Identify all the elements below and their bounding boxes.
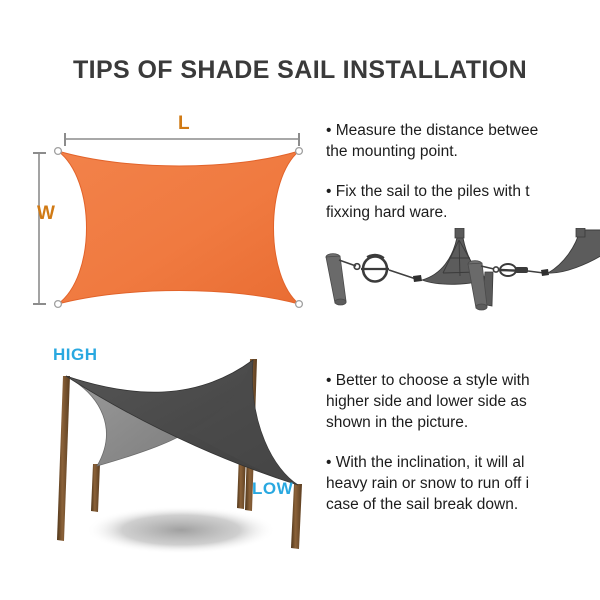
post-mid-left: [91, 464, 100, 512]
instruction-line: higher side and lower side as: [326, 391, 600, 412]
instruction-line: fixxing hard ware.: [326, 202, 600, 223]
inclined-structure-diagram: HIGH LOW: [36, 344, 336, 574]
mounting-post-icon: [468, 261, 487, 310]
instruction-item: • Measure the distance betwee the mounti…: [326, 120, 600, 162]
hardware-assembly-left: [326, 228, 493, 306]
mounting-hardware-illustration: [312, 228, 600, 320]
instruction-line: shown in the picture.: [326, 412, 600, 433]
instructions-bottom: • Better to choose a style with higher s…: [326, 370, 600, 515]
width-label: W: [37, 203, 55, 225]
instruction-line: heavy rain or snow to run off i: [326, 473, 600, 494]
instruction-line: • Better to choose a style with: [326, 370, 600, 391]
post-high-left: [57, 376, 70, 541]
sail-corner-right: [548, 230, 600, 273]
hardware-svg: [312, 228, 600, 320]
instruction-line: case of the sail break down.: [326, 494, 600, 515]
instruction-line: • Fix the sail to the piles with t: [326, 181, 600, 202]
instruction-line: • With the inclination, it will al: [326, 452, 600, 473]
rectangular-sail-diagram: L W: [18, 108, 318, 320]
instruction-line: the mounting point.: [326, 141, 600, 162]
instructions-top: • Measure the distance betwee the mounti…: [326, 120, 600, 223]
instruction-item: • Fix the sail to the piles with t fixxi…: [326, 181, 600, 223]
ground-shadow: [86, 506, 276, 554]
page-title: TIPS OF SHADE SAIL INSTALLATION: [0, 56, 600, 85]
low-side-label: LOW: [252, 479, 293, 499]
sail-fabric: [58, 151, 299, 304]
turnbuckle-icon: [361, 255, 389, 282]
structure-svg: [36, 344, 336, 574]
infographic-page: TIPS OF SHADE SAIL INSTALLATION: [0, 0, 600, 600]
instruction-item: • Better to choose a style with higher s…: [326, 370, 600, 433]
width-dimension-line: [33, 153, 46, 304]
length-label: L: [178, 113, 190, 135]
instruction-line: • Measure the distance betwee: [326, 120, 600, 141]
sail-diagram-svg: [18, 108, 318, 320]
instruction-item: • With the inclination, it will al heavy…: [326, 452, 600, 515]
high-side-label: HIGH: [53, 345, 98, 365]
turnbuckle-icon: [500, 264, 528, 276]
